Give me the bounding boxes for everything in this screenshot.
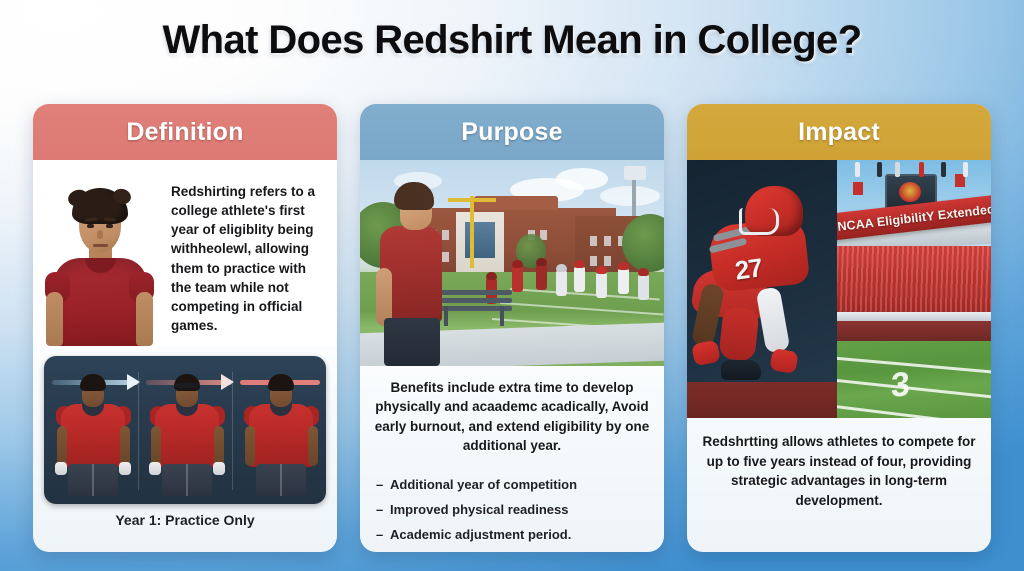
- year-caption: Year 1: Practice Only: [33, 512, 337, 528]
- bullet-dash-icon: –: [376, 497, 390, 522]
- bullet-dash-icon: –: [376, 522, 390, 547]
- card-header-purpose: Purpose: [360, 104, 664, 160]
- card-impact: Impact 27: [687, 104, 991, 552]
- jersey-number: 27: [733, 252, 764, 286]
- progression-figure-2: [144, 374, 230, 496]
- purpose-bullet-text: Improved physical readiness: [390, 502, 568, 517]
- progression-figure-3: [238, 374, 324, 496]
- card-body-impact: 27: [687, 160, 991, 552]
- purpose-body-text: Benefits include extra time to develop p…: [360, 366, 664, 460]
- page-title: What Does Redshirt Mean in College?: [0, 18, 1024, 63]
- bullet-dash-icon: –: [376, 472, 390, 497]
- impact-image-pair: 27: [687, 160, 991, 418]
- campus-practice-image: [360, 160, 664, 366]
- three-point-stance-image: 27: [687, 160, 837, 418]
- athlete-portrait-image: [33, 160, 165, 346]
- definition-top-row: Redshirting refers to a college athlete'…: [33, 160, 337, 346]
- card-definition: Definition: [33, 104, 337, 552]
- field-yard-number: 3: [891, 365, 910, 406]
- card-body-definition: Redshirting refers to a college athlete'…: [33, 160, 337, 552]
- progression-figure-1: [50, 374, 136, 496]
- stadium-image: 3 NCAA EligibilitY Extended: [837, 160, 991, 418]
- progression-panel-image: [44, 356, 326, 504]
- foreground-athlete-image: [374, 182, 450, 366]
- card-purpose: Purpose: [360, 104, 664, 552]
- impact-body-text: Redshrtting allows athletes to compete f…: [687, 418, 991, 516]
- infographic-canvas: What Does Redshirt Mean in College? Defi…: [0, 0, 1024, 571]
- definition-body-text: Redshirting refers to a college athlete'…: [165, 160, 337, 346]
- purpose-bullet-item: –Additional year of competition: [376, 472, 664, 497]
- card-header-impact: Impact: [687, 104, 991, 160]
- card-header-definition: Definition: [33, 104, 337, 160]
- purpose-bullet-item: –Improved physical readiness: [376, 497, 664, 522]
- purpose-bullet-text: Additional year of competition: [390, 477, 577, 492]
- facemask-icon: [739, 208, 779, 235]
- card-body-purpose: Benefits include extra time to develop p…: [360, 160, 664, 552]
- purpose-bullet-list: –Additional year of competition –Improve…: [360, 472, 664, 548]
- purpose-bullet-item: –Academic adjustment period.: [376, 522, 664, 547]
- purpose-bullet-text: Academic adjustment period.: [390, 527, 571, 542]
